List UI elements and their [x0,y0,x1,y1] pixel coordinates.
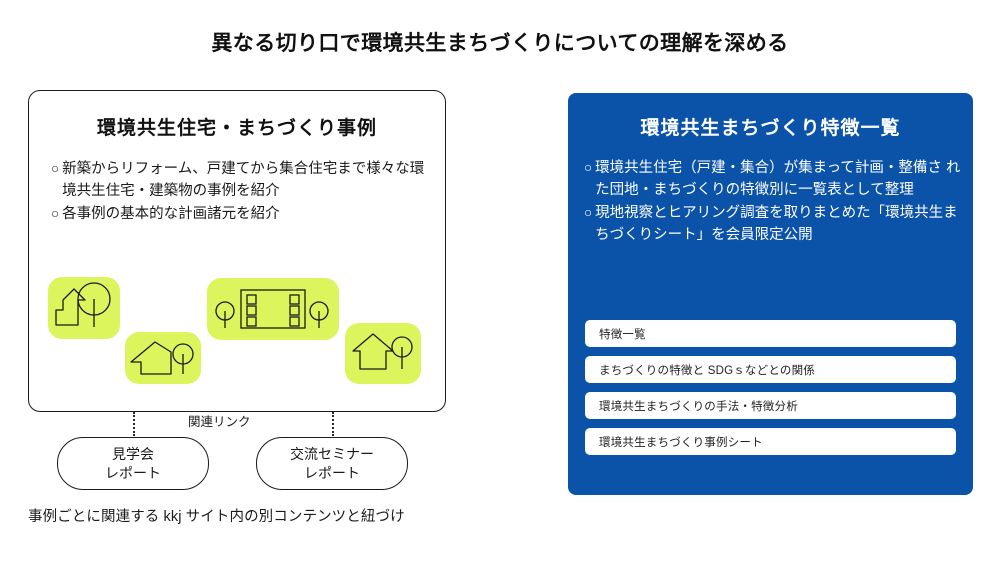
bullet-text: 各事例の基本的な計画諸元を紹介 [62,204,431,226]
left-panel-bullet-list: ○ 新築からリフォーム、戸建てから集合住宅まで様々な環境共生住宅・建築物の事例を… [51,159,431,226]
link-box-line2: レポート [304,464,360,483]
bullet-item: ○ 各事例の基本的な計画諸元を紹介 [51,204,431,226]
link-box-line1: 交流セミナー [290,445,374,464]
right-panel-bullet-list: ○ 環境共生住宅（戸建・集合）が集まって計画・整備さ れた団地・まちづくりの特徴… [584,157,962,247]
left-panel-title: 環境共生住宅・まちづくり事例 [29,113,445,140]
list-item[interactable]: 特徴一覧 [585,320,956,347]
bullet-text: 環境共生住宅（戸建・集合）が集まって計画・整備さ れた団地・まちづくりの特徴別に… [595,157,962,202]
bullet-item: ○ 環境共生住宅（戸建・集合）が集まって計画・整備さ れた団地・まちづくりの特徴… [584,157,962,202]
bullet-item: ○ 新築からリフォーム、戸建てから集合住宅まで様々な環境共生住宅・建築物の事例を… [51,159,431,203]
circle-bullet-icon: ○ [584,202,592,224]
related-link-label: 関連リンク [188,411,251,430]
bullet-text: 新築からリフォーム、戸建てから集合住宅まで様々な環境共生住宅・建築物の事例を紹介 [62,159,431,203]
circle-bullet-icon: ○ [584,157,592,179]
list-item[interactable]: まちづくりの特徴と SDGｓなどとの関係 [585,356,956,383]
link-box-line2: レポート [105,464,161,483]
circle-bullet-icon: ○ [51,159,59,180]
right-panel-link-list: 特徴一覧 まちづくりの特徴と SDGｓなどとの関係 環境共生まちづくりの手法・特… [585,320,956,464]
list-item[interactable]: 環境共生まちづくり事例シート [585,428,956,455]
house-peaked-roof-with-tree-icon [345,323,421,384]
right-panel-title: 環境共生まちづくり特徴一覧 [568,113,973,140]
bullet-item: ○ 現地視察とヒアリング調査を取りまとめた「環境共生まちづくりシート」を会員限定… [584,202,962,247]
connector-dotted-left [133,412,135,436]
page-title: 異なる切り口で環境共生まちづくりについての理解を深める [0,27,1000,57]
right-panel-feature-list: 環境共生まちづくり特徴一覧 ○ 環境共生住宅（戸建・集合）が集まって計画・整備さ… [568,93,973,495]
connector-dotted-right [332,412,334,436]
bullet-text: 現地視察とヒアリング調査を取りまとめた「環境共生まちづくりシート」を会員限定公開 [595,202,962,247]
link-box-line1: 見学会 [112,445,154,464]
left-panel-caption: 事例ごとに関連する kkj サイト内の別コンテンツと紐づけ [28,505,405,526]
apartment-building-with-trees-icon [207,278,339,340]
house-gable-with-tree-icon [48,277,120,339]
link-box-seminar-report[interactable]: 交流セミナー レポート [256,437,408,490]
house-slanted-roof-with-tree-icon [125,332,201,384]
link-box-tour-report[interactable]: 見学会 レポート [57,437,209,490]
list-item[interactable]: 環境共生まちづくりの手法・特徴分析 [585,392,956,419]
circle-bullet-icon: ○ [51,204,59,225]
